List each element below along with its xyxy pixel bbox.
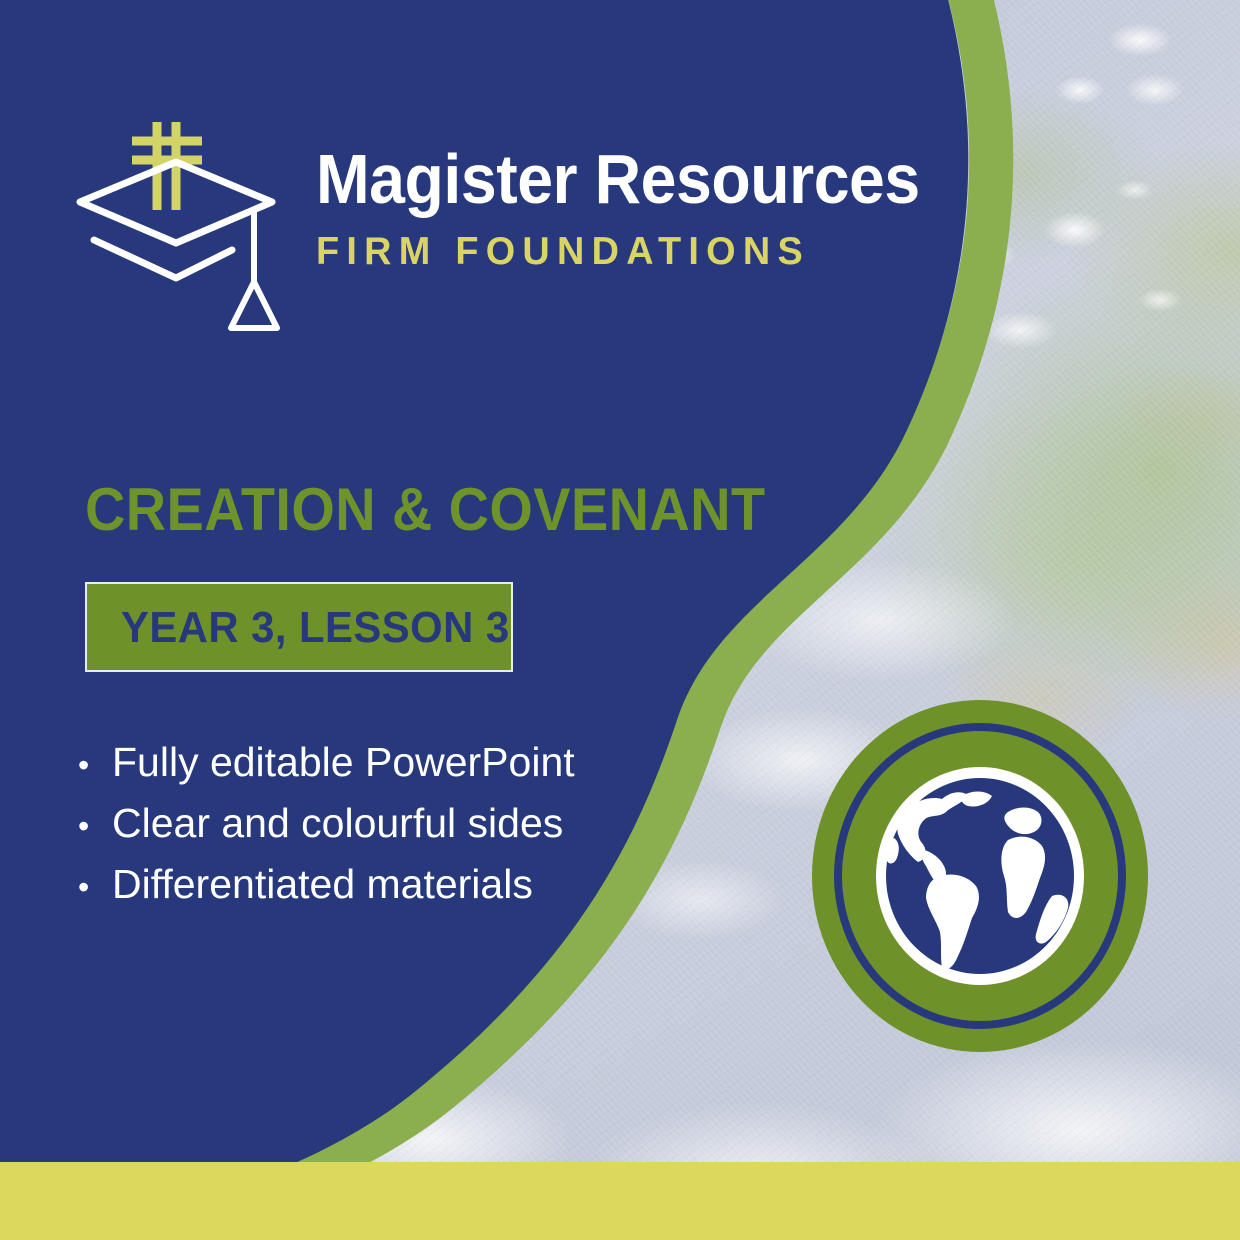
- feature-label: Clear and colourful sides: [112, 793, 563, 854]
- brand-logo-lockup: Magister Resources FIRM FOUNDATIONS: [72, 110, 972, 335]
- lesson-title: CREATION & COVENANT: [85, 480, 699, 540]
- mortarboard-under: [94, 240, 232, 278]
- list-item: • Clear and colourful sides: [78, 793, 575, 854]
- bullet-icon: •: [78, 742, 112, 790]
- graduation-cap-with-cross-icon: [72, 110, 292, 335]
- brand-wordmark: Magister Resources FIRM FOUNDATIONS: [316, 144, 972, 274]
- list-item: • Fully editable PowerPoint: [78, 732, 575, 793]
- feature-list: • Fully editable PowerPoint • Clear and …: [78, 732, 575, 915]
- lesson-badge: YEAR 3, LESSON 3: [85, 582, 513, 672]
- globe-emblem: [812, 700, 1148, 1052]
- bullet-icon: •: [78, 803, 112, 851]
- feature-label: Fully editable PowerPoint: [112, 732, 575, 793]
- tassel-triangle: [231, 282, 277, 328]
- feature-label: Differentiated materials: [112, 854, 533, 915]
- bottom-yellow-strip: [0, 1162, 1240, 1240]
- bullet-icon: •: [78, 864, 112, 912]
- brand-name: Magister Resources: [316, 144, 920, 214]
- brand-tagline: FIRM FOUNDATIONS: [316, 230, 953, 274]
- poster-canvas: Magister Resources FIRM FOUNDATIONS CREA…: [0, 0, 1240, 1240]
- lesson-title-block: CREATION & COVENANT YEAR 3, LESSON 3: [85, 480, 745, 672]
- lesson-badge-label: YEAR 3, LESSON 3: [121, 606, 459, 650]
- list-item: • Differentiated materials: [78, 854, 575, 915]
